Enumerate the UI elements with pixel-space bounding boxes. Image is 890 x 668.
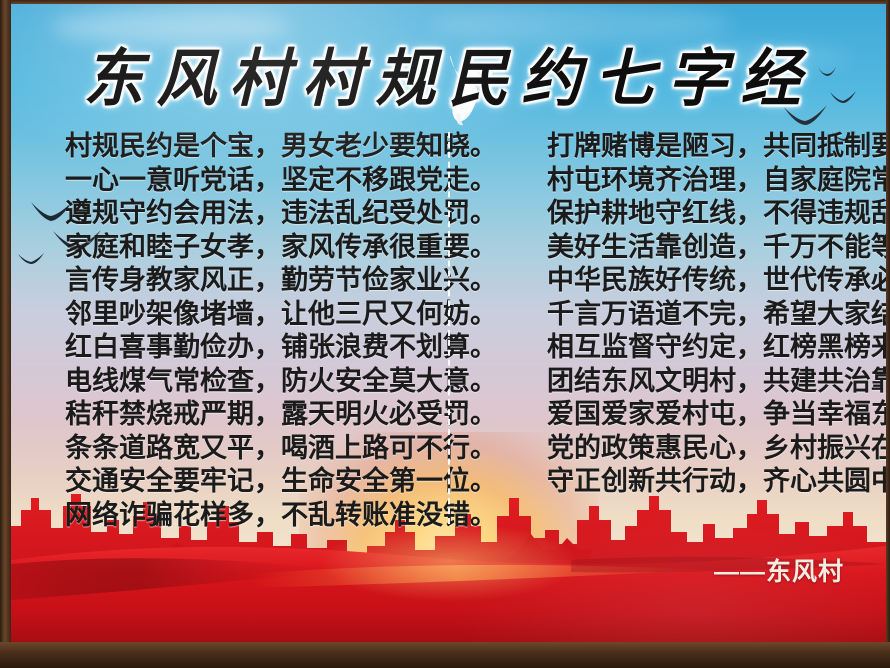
verse-line: 党的政策惠民心，乡村振兴在眼前。 — [547, 432, 886, 466]
verse-line: 交通安全要牢记，生命安全第一位。 — [65, 465, 497, 499]
column-divider — [448, 132, 450, 524]
verse-line: 一心一意听党话，坚定不移跟党走。 — [65, 164, 497, 198]
signature: ——东风村 — [714, 552, 844, 588]
verse-line: 遵规守约会用法，违法乱纪受处罚。 — [65, 197, 497, 231]
verse-line: 保护耕地守红线，不得违规乱搭建。 — [547, 197, 886, 231]
village-rules-poster: 东风村村规民约七字经 — [0, 0, 890, 668]
verse-line: 红白喜事勤俭办，铺张浪费不划算。 — [65, 331, 497, 365]
verse-line: 美好生活靠创造，千万不能等靠要。 — [547, 231, 886, 265]
frame-left-edge — [0, 0, 11, 668]
verse-line: 相互监督守约定，红榜黑榜来评定。 — [547, 331, 886, 365]
verse-line: 家庭和睦子女孝，家风传承很重要。 — [65, 231, 497, 265]
verse-column-right: 打牌赌博是陋习，共同抵制要远离。 村屯环境齐治理，自家庭院常打扫。 保护耕地守红… — [503, 130, 886, 530]
frame-top-edge — [0, 0, 890, 4]
verse-line: 团结东风文明村，共建共治靠大家。 — [547, 365, 886, 399]
frame-bottom-edge — [0, 642, 890, 668]
verse-line: 邻里吵架像堵墙，让他三尺又何妨。 — [65, 298, 497, 332]
verse-line: 守正创新共行动，齐心共圆中国梦。 — [547, 465, 886, 499]
verse-line: 爱国爱家爱村屯，争当幸福东风人。 — [547, 398, 886, 432]
frame-right-edge — [886, 0, 890, 668]
verse-line: 中华民族好传统，世代传承必繁荣。 — [547, 264, 886, 298]
verse-line: 条条道路宽又平，喝酒上路可不行。 — [65, 432, 497, 466]
verse-column-left: 村规民约是个宝，男女老少要知晓。 一心一意听党话，坚定不移跟党走。 遵规守约会用… — [11, 130, 503, 530]
verse-line: 网络诈骗花样多，不乱转账准没错。 — [65, 499, 497, 533]
ribbon-sun-glow — [319, 522, 579, 602]
poster-board: 东风村村规民约七字经 — [11, 4, 886, 642]
verse-line: 电线煤气常检查，防火安全莫大意。 — [65, 365, 497, 399]
page-title: 东风村村规民约七字经 — [11, 28, 886, 118]
verse-line: 秸秆禁烧戒严期，露天明火必受罚。 — [65, 398, 497, 432]
verse-line: 言传身教家风正，勤劳节俭家业兴。 — [65, 264, 497, 298]
verse-line: 千言万语道不完，希望大家结成团。 — [547, 298, 886, 332]
verse-line: 村规民约是个宝，男女老少要知晓。 — [65, 130, 497, 164]
verse-line: 打牌赌博是陋习，共同抵制要远离。 — [547, 130, 886, 164]
verse-line: 村屯环境齐治理，自家庭院常打扫。 — [547, 164, 886, 198]
